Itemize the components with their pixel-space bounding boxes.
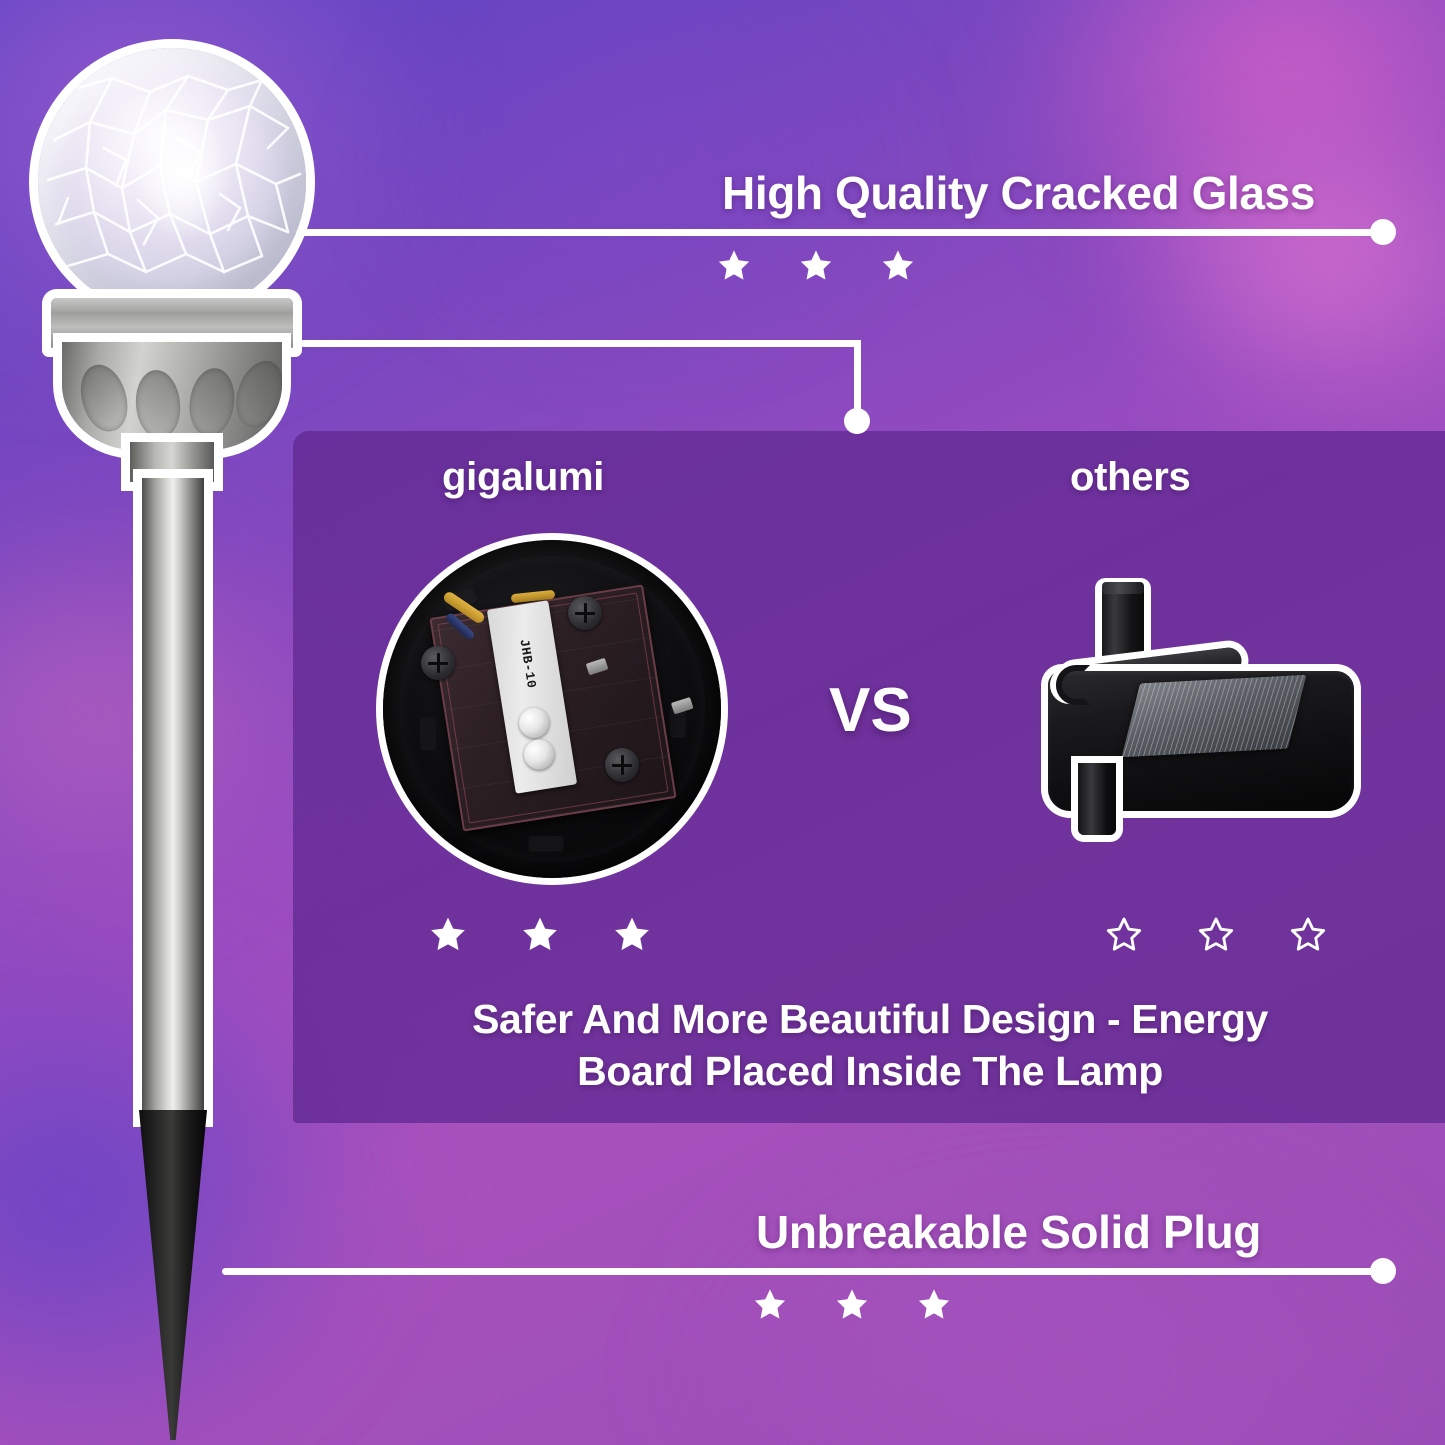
crackled-glass-globe [38, 48, 306, 316]
star-filled-icon [916, 1287, 952, 1323]
board-marking-text: JHB-10 [513, 613, 543, 714]
base-petal [229, 355, 282, 433]
mount-post-lower [1078, 763, 1116, 835]
led-icon [522, 737, 556, 771]
star-rating-top [716, 248, 916, 284]
stainless-steel-stem [142, 478, 204, 1118]
globe-highlight [134, 107, 230, 241]
product-infographic: High Quality Cracked Glass gigalumi othe… [0, 0, 1445, 1445]
star-rating-gigalumi [428, 915, 652, 955]
base-petal [133, 368, 183, 440]
screw-icon [605, 748, 639, 782]
star-filled-icon [428, 915, 468, 955]
star-outline-icon [1104, 915, 1144, 955]
star-filled-icon [520, 915, 560, 955]
mount-clip [1056, 665, 1090, 705]
housing-clip [421, 718, 435, 748]
callout-dot-top [1370, 219, 1396, 245]
star-filled-icon [612, 915, 652, 955]
lamp-neck-joint [130, 442, 214, 482]
photovoltaic-cell [1121, 675, 1306, 757]
callout-title-top: High Quality Cracked Glass [722, 166, 1315, 220]
comparison-caption-line-2: Board Placed Inside The Lamp [330, 1045, 1410, 1097]
callout-dot-middle [844, 408, 870, 434]
star-outline-icon [1288, 915, 1328, 955]
callout-title-bottom: Unbreakable Solid Plug [756, 1205, 1261, 1259]
screw-icon [421, 646, 455, 680]
versus-label: VS [829, 675, 912, 746]
board-contact-tab [586, 658, 609, 676]
led-icon [517, 706, 551, 740]
others-solar-panel-photo [1040, 585, 1362, 837]
star-filled-icon [716, 248, 752, 284]
callout-dot-bottom [1370, 1258, 1396, 1284]
star-outline-icon [1196, 915, 1236, 955]
housing-clip [529, 836, 563, 850]
solar-path-light-product [18, 30, 328, 1442]
callout-line-top [296, 229, 1384, 236]
comparison-label-gigalumi: gigalumi [442, 455, 604, 500]
star-filled-icon [880, 248, 916, 284]
star-filled-icon [752, 1287, 788, 1323]
star-filled-icon [834, 1287, 870, 1323]
comparison-caption: Safer And More Beautiful Design - Energy… [330, 993, 1410, 1097]
comparison-label-others: others [1070, 455, 1190, 500]
base-petal [73, 359, 134, 436]
star-rating-others [1104, 915, 1328, 955]
star-filled-icon [798, 248, 834, 284]
comparison-caption-line-1: Safer And More Beautiful Design - Energy [330, 993, 1410, 1045]
gigalumi-energy-board-photo: JHB-10 [383, 540, 721, 878]
star-rating-bottom [752, 1287, 952, 1323]
callout-line-bottom [222, 1268, 1384, 1275]
base-petal [185, 365, 238, 438]
screw-icon [568, 596, 602, 630]
mount-post-cap [1102, 582, 1144, 594]
stainless-steel-base [62, 342, 282, 450]
solid-ground-spike [139, 1110, 207, 1440]
lamp-collar-ring [51, 298, 293, 348]
callout-line-middle-horizontal [300, 340, 861, 347]
